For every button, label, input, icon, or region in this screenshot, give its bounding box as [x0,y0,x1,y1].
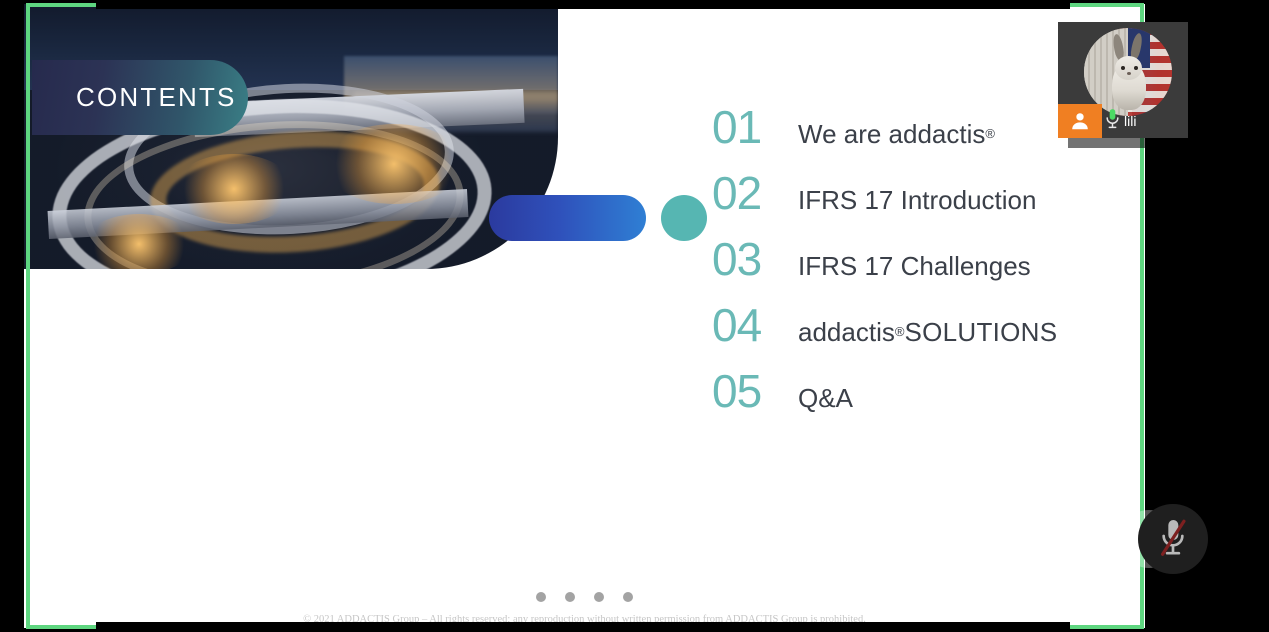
agenda-number: 03 [712,232,792,286]
shared-slide[interactable]: CONTENTS 01 We are addactis® 02 IFRS 17 … [24,4,1145,628]
microphone-muted-icon [1156,518,1190,561]
screen-share-border-gap-bottom [96,622,1070,632]
agenda-item: 05 Q&A [712,364,1132,430]
contents-banner: CONTENTS [32,60,248,135]
agenda-title: IFRS 17 Introduction [792,185,1036,216]
screen-share-border-gap-top [96,0,1070,9]
agenda-item: 04 addactis®SOLUTIONS [712,298,1132,364]
agenda-number: 01 [712,100,792,154]
registered-mark: ® [985,126,995,141]
avatar-rabbit-eye-right [1134,66,1138,70]
agenda-title-suffix: SOLUTIONS [904,317,1057,347]
pagination-dot [536,592,546,602]
agenda-title-text: addactis [798,317,895,347]
agenda-title: Q&A [792,383,853,414]
hero-light-glow-3 [84,214,194,269]
agenda-number: 02 [712,166,792,220]
agenda-title: IFRS 17 Challenges [792,251,1031,282]
participant-name: lili [1124,113,1136,129]
decorative-teal-dot [661,195,707,241]
participant-name-row: lili [1104,104,1136,138]
pagination-dot [594,592,604,602]
hero-light-glow-1 [174,154,294,224]
agenda-item: 03 IFRS 17 Challenges [712,232,1132,298]
participant-video-tile[interactable]: lili [1058,22,1188,138]
agenda-title-text: IFRS 17 Introduction [798,185,1036,215]
agenda-number: 04 [712,298,792,352]
person-icon [1058,104,1102,138]
agenda-title: addactis®SOLUTIONS [792,317,1057,348]
pagination-dot [565,592,575,602]
agenda-item: 02 IFRS 17 Introduction [712,166,1132,232]
participant-avatar [1084,28,1172,116]
registered-mark: ® [895,324,905,339]
agenda-title-text: We are addactis [798,119,985,149]
avatar-rabbit-nose [1127,72,1131,75]
agenda-number: 05 [712,364,792,418]
microphone-icon [1104,108,1121,135]
slide-pagination-dots [24,592,1145,602]
agenda-title: We are addactis® [792,119,995,150]
contents-label: CONTENTS [32,82,237,113]
decorative-blue-pill [489,195,646,241]
pagination-dot [623,592,633,602]
avatar-rabbit-eye-left [1121,66,1125,70]
agenda-title-text: Q&A [798,383,853,413]
screen-share-stage: CONTENTS 01 We are addactis® 02 IFRS 17 … [0,0,1269,632]
hero-city-image [24,4,558,269]
agenda-title-text: IFRS 17 Challenges [798,251,1031,281]
agenda-list: 01 We are addactis® 02 IFRS 17 Introduct… [712,100,1132,430]
mute-toggle-button[interactable] [1138,504,1208,574]
hero-light-glow-2 [324,124,464,204]
